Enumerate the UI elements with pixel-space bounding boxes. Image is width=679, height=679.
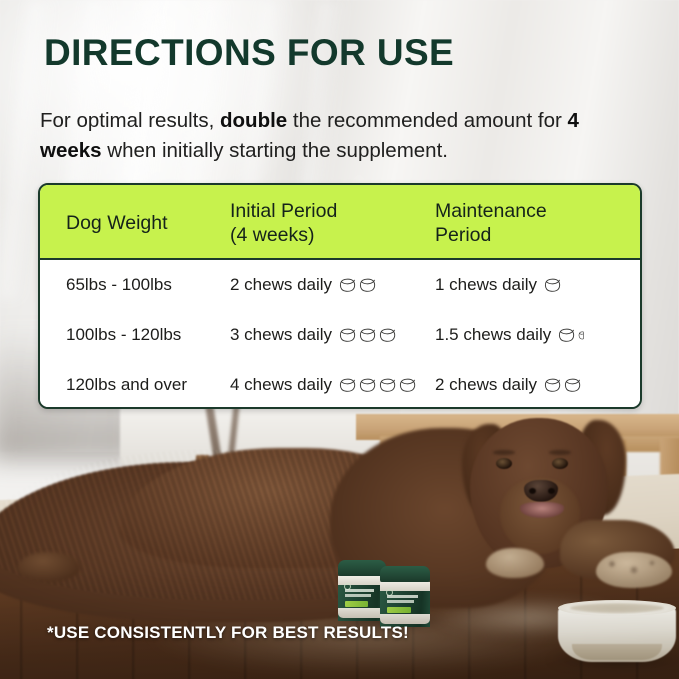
cell-dog-weight: 120lbs and over [40, 375, 230, 395]
chew-icon [544, 378, 561, 393]
table-row: 65lbs - 100lbs2 chews daily1 chews daily [40, 260, 640, 310]
cell-maintenance-label: 1 chews daily [435, 275, 537, 295]
cell-dog-weight: 65lbs - 100lbs [40, 275, 230, 295]
chew-icon [564, 378, 581, 393]
cell-initial-label: 3 chews daily [230, 325, 332, 345]
cell-maintenance-period: 1.5 chews daily [435, 325, 640, 345]
column-header-maintenance-line2: Period [435, 223, 547, 247]
subtitle-part-1: For optimal results, [40, 109, 220, 132]
chew-icon [544, 278, 561, 293]
chew-icon [339, 278, 356, 293]
chew-icon [359, 378, 376, 393]
maintenance-chew-icons [544, 278, 561, 293]
initial-chew-icons [339, 378, 416, 393]
column-header-initial-line1: Initial Period [230, 199, 337, 223]
chew-icon [339, 328, 356, 343]
subtitle-bold-double: double [220, 109, 287, 132]
cell-initial-label: 4 chews daily [230, 375, 332, 395]
initial-chew-icons [339, 278, 376, 293]
column-header-initial-period: Initial Period (4 weeks) [230, 185, 435, 258]
chew-icon [359, 328, 376, 343]
cell-dog-weight: 100lbs - 120lbs [40, 325, 230, 345]
page-subtitle: For optimal results, double the recommen… [40, 106, 640, 166]
cell-initial-period: 3 chews daily [230, 325, 435, 345]
chew-icon [339, 378, 356, 393]
subtitle-part-3: when initially starting the supplement. [102, 139, 448, 162]
column-header-dog-weight-label: Dog Weight [66, 211, 168, 235]
cell-maintenance-period: 1 chews daily [435, 275, 640, 295]
chew-icon [359, 278, 376, 293]
cell-maintenance-period: 2 chews daily [435, 375, 640, 395]
chew-icon [399, 378, 416, 393]
chew-icon [379, 378, 396, 393]
chew-icon [379, 328, 396, 343]
cell-initial-period: 2 chews daily [230, 275, 435, 295]
table-body: 65lbs - 100lbs2 chews daily1 chews daily… [40, 260, 640, 409]
directions-for-use-infographic: DIRECTIONS FOR USE For optimal results, … [0, 0, 679, 679]
table-row: 100lbs - 120lbs3 chews daily1.5 chews da… [40, 310, 640, 360]
overlay-content: DIRECTIONS FOR USE For optimal results, … [0, 0, 679, 679]
maintenance-chew-icons [544, 378, 581, 393]
column-header-maintenance-period: Maintenance Period [435, 185, 640, 258]
chew-icon [578, 328, 589, 343]
cell-initial-label: 2 chews daily [230, 275, 332, 295]
column-header-maintenance-line1: Maintenance [435, 199, 547, 223]
chew-icon [558, 328, 575, 343]
page-title: DIRECTIONS FOR USE [44, 32, 454, 74]
column-header-dog-weight: Dog Weight [40, 185, 230, 258]
footnote-text: *USE CONSISTENTLY FOR BEST RESULTS! [47, 623, 409, 643]
table-header-row: Dog Weight Initial Period (4 weeks) Main… [40, 185, 640, 260]
column-header-initial-line2: (4 weeks) [230, 223, 337, 247]
cell-initial-period: 4 chews daily [230, 375, 435, 395]
table-row: 120lbs and over4 chews daily2 chews dail… [40, 360, 640, 409]
cell-maintenance-label: 1.5 chews daily [435, 325, 551, 345]
initial-chew-icons [339, 328, 396, 343]
cell-maintenance-label: 2 chews daily [435, 375, 537, 395]
maintenance-chew-icons [558, 328, 589, 343]
dosage-table: Dog Weight Initial Period (4 weeks) Main… [38, 183, 642, 409]
subtitle-part-2: the recommended amount for [287, 109, 567, 132]
